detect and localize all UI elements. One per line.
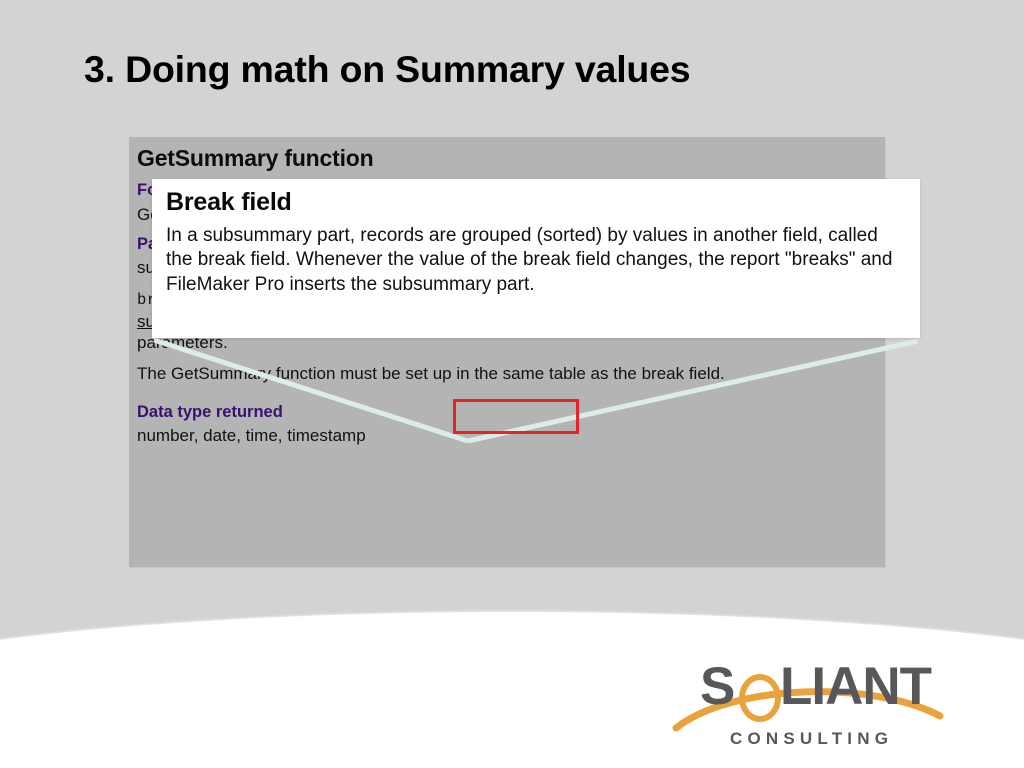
help-same-table-note: The GetSummary function must be set up i… — [137, 363, 879, 384]
logo-wordmark-rest: LIANT — [780, 657, 932, 716]
logo-wordmark-s: S — [700, 657, 734, 716]
logo-tagline: CONSULTING — [730, 729, 893, 748]
help-datatype-heading: Data type returned — [137, 402, 879, 423]
page-title: 3. Doing math on Summary values — [84, 47, 964, 92]
slide-canvas: 3. Doing math on Summary values GetSumma… — [0, 0, 1024, 768]
break-field-callout: Break field In a subsummary part, record… — [152, 179, 920, 338]
soliant-consulting-logo: S LIANT CONSULTING — [672, 646, 952, 751]
help-panel-heading: GetSummary function — [137, 145, 879, 171]
callout-body-text: In a subsummary part, records are groupe… — [166, 224, 906, 299]
callout-title: Break field — [166, 189, 906, 217]
callout-content: Break field In a subsummary part, record… — [152, 179, 920, 298]
help-section-datatype: Data type returned number, date, time, t… — [137, 402, 879, 447]
help-datatype-text: number, date, time, timestamp — [137, 425, 879, 446]
